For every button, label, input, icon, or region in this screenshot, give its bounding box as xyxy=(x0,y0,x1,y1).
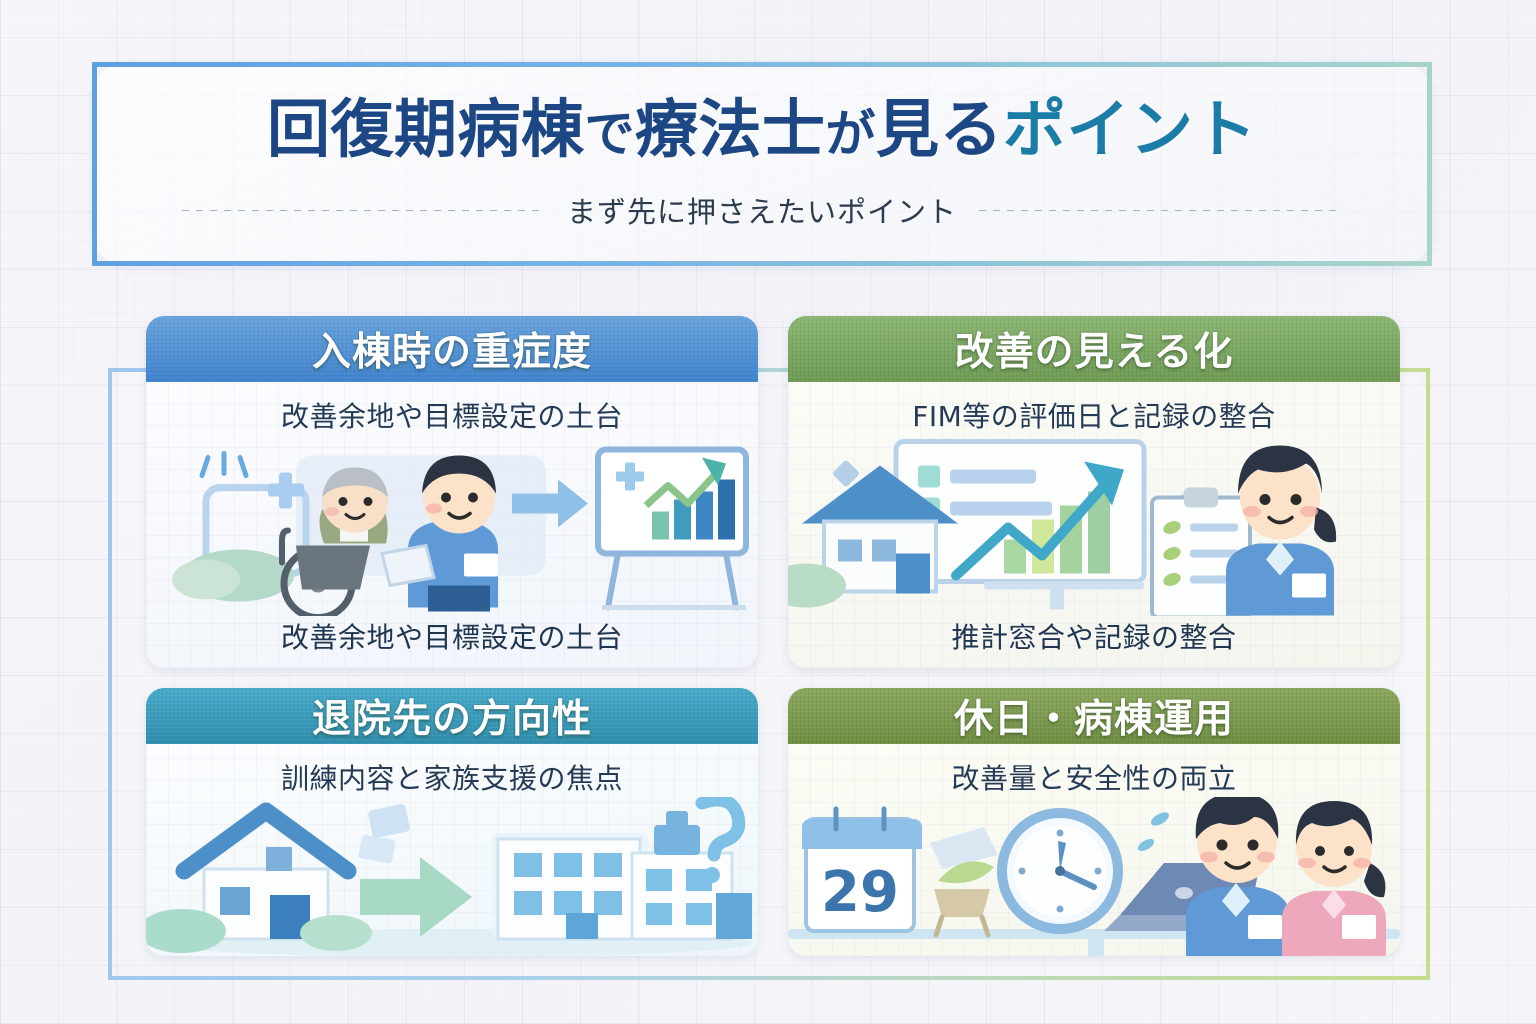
card-heading: 休日・病棟運用 xyxy=(954,688,1234,744)
card-header: 退院先の方向性 xyxy=(146,688,758,744)
page-subtitle: まず先に押さえたいポイント xyxy=(567,189,957,231)
dashed-rule-left xyxy=(182,210,545,211)
card-discharge-destination[interactable]: 退院先の方向性 訓練内容と家族支援の焦点 xyxy=(146,688,758,956)
illustration-house-arrow-facility-question xyxy=(146,797,758,956)
card-subtitle: FIM等の評価日と記録の整合 xyxy=(912,395,1276,435)
card-severity-on-admission[interactable]: 入棟時の重症度 改善余地や目標設定の土台 xyxy=(146,316,758,668)
card-subtitle: 訓練内容と家族支援の焦点 xyxy=(281,757,623,797)
page-title: 回復期病棟で療法士が見るポイント xyxy=(267,97,1257,163)
card-heading: 退院先の方向性 xyxy=(312,688,592,744)
card-header: 休日・病棟運用 xyxy=(788,688,1400,744)
illustration-house-chart-nurse-clipboard xyxy=(788,435,1400,616)
card-footer-caption: 推計窓合や記録の整合 xyxy=(951,616,1236,668)
illustration-calendar-clock-staff-laptop: 29 xyxy=(788,797,1400,956)
calendar-day-number: 29 xyxy=(821,860,899,925)
title-segment-5: 見る xyxy=(876,97,1003,163)
title-segment-2: で xyxy=(585,108,636,161)
card-header: 入棟時の重症度 xyxy=(146,316,758,382)
card-body: 改善量と安全性の両立 29 xyxy=(788,744,1400,956)
card-heading: 入棟時の重症度 xyxy=(312,321,592,377)
card-body: 改善余地や目標設定の土台 xyxy=(146,382,758,668)
illustration-wheelchair-patient-therapist-chart xyxy=(146,435,758,616)
title-segment-3: 療法士 xyxy=(635,97,826,163)
card-subtitle: 改善量と安全性の両立 xyxy=(951,757,1236,797)
card-heading: 改善の見える化 xyxy=(955,321,1234,377)
title-segment-1: 回復期病棟 xyxy=(267,97,585,163)
cards-grid: 入棟時の重症度 改善余地や目標設定の土台 xyxy=(146,316,1400,956)
title-banner: 回復期病棟で療法士が見るポイント まず先に押さえたいポイント xyxy=(92,62,1432,266)
card-footer-caption: 改善余地や目標設定の土台 xyxy=(281,616,623,668)
subtitle-row: まず先に押さえたいポイント xyxy=(182,189,1342,231)
card-holiday-ward-operation[interactable]: 休日・病棟運用 改善量と安全性の両立 29 xyxy=(788,688,1400,956)
card-visualizing-improvement[interactable]: 改善の見える化 FIM等の評価日と記録の整合 xyxy=(788,316,1400,668)
card-body: FIM等の評価日と記録の整合 xyxy=(788,382,1400,668)
card-header: 改善の見える化 xyxy=(788,316,1400,382)
title-segment-4: が xyxy=(826,108,877,161)
card-subtitle: 改善余地や目標設定の土台 xyxy=(281,395,623,435)
title-segment-highlight: ポイント xyxy=(1003,97,1257,163)
dashed-rule-right xyxy=(979,210,1342,211)
card-body: 訓練内容と家族支援の焦点 xyxy=(146,744,758,956)
